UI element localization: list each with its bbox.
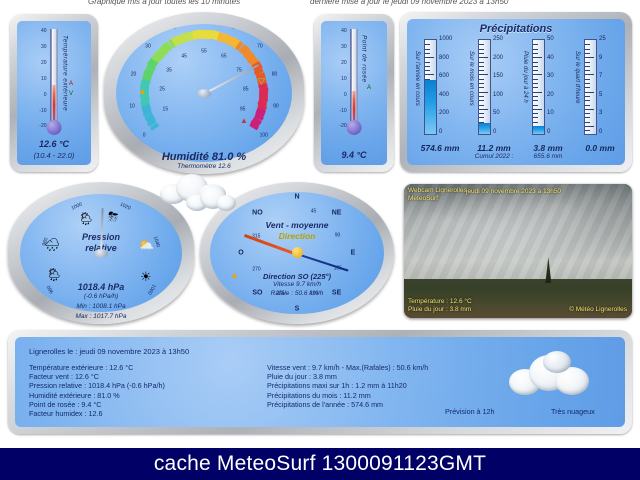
precipitation-scale-label: 0 [599,129,602,135]
precipitation-scale-label: 0 [493,129,496,135]
precipitation-tick [479,62,484,63]
wind-gust-text: Rafale : 50.6 km/h [210,290,384,299]
precipitation-tick [533,44,538,45]
summary-left-line: Température extérieure : 12.6 °C [29,363,165,372]
precipitation-scale-label: 20 [547,92,554,98]
precipitation-tick [533,74,542,75]
precipitation-tick [533,87,538,88]
precipitation-tick [479,92,488,93]
precipitation-tick [585,44,590,45]
barometer-readout: 1018.4 hPa (-0.6 hPa/h) Min : 1008.1 hPa… [8,282,194,322]
wind-direction-text: Direction SO (225°) [263,272,331,281]
precipitation-subvalue: 655.6 mm [517,153,579,160]
precipitation-tick [533,49,538,50]
precipitation-tick [479,117,484,118]
forecast-text: Très nuageux [551,407,595,416]
precipitation-column: 10008006004002000Sur l'année en cours574… [415,39,465,139]
rainy-symbol-icon: 🌧 [44,238,61,251]
precipitation-scale-label: 200 [439,110,449,116]
precipitation-tick [479,74,488,75]
outdoor-temperature-label: Température extérieure [61,35,68,111]
humidity-tick-label: 100 [260,133,268,138]
precipitation-tick [479,70,484,71]
humidity-min-marker-icon: ▲ [138,86,147,96]
humidity-inner-tick-label: 95 [240,108,246,113]
precipitation-tick [533,96,538,97]
dewpoint-glass-tube [351,29,358,129]
webcam-station-line2: MeteoSurf [408,195,438,202]
footer-text: cache MeteoSurf 1300091123GMT [154,452,486,476]
humidity-gauge-face: 0102030405060708090100 15253545556575859… [116,24,292,162]
storm-symbol-icon: ⛈ [108,210,118,223]
precipitation-tick [479,79,484,80]
tick-label: -20 [39,124,46,129]
decorative-cloud-right [186,186,238,212]
precipitation-axis-label: Sur le mois en cours [468,51,474,106]
wind-cardinal-label: E [351,250,356,257]
summary-left-line: Point de rosée : 9.4 °C [29,400,165,409]
humidity-tick-label: 40 [170,25,176,30]
precipitation-subvalue: Cumul 2022 : [463,153,525,160]
precipitation-tick [585,53,590,54]
precipitation-axis-label: Sur l'année en cours [414,51,420,106]
barometer-min: Min : 1008.1 hPa [8,302,194,312]
precipitation-panel[interactable]: Précipitations 10008006004002000Sur l'an… [400,12,632,172]
precipitation-tick [585,109,594,110]
precipitation-tick [479,113,484,114]
precipitation-tick [585,130,590,131]
summary-right-line: Précipitations de l'année : 574.6 mm [267,400,428,409]
precipitation-tick [479,44,484,45]
min-marker-icon: V [69,91,73,97]
precipitation-tube [532,39,545,135]
humidity-inner-tick-label: 25 [159,88,165,93]
precipitation-scale-label: 800 [439,55,449,61]
precipitation-scale-label: 5 [599,92,602,98]
precipitation-tick [585,117,590,118]
precipitation-tick [585,83,590,84]
humidity-inner-tick-label: 15 [163,108,169,113]
precipitation-fill [425,80,436,134]
humidity-max-marker-icon: ▽ [258,76,265,87]
humidity-inner-tick-label: 45 [181,55,187,60]
precipitation-tick [479,105,484,106]
precipitation-tick [533,122,538,123]
barometer-tick-label: 1020 [118,202,130,211]
precipitation-tick [425,62,430,63]
precipitation-scale-label: 200 [493,55,503,61]
summary-right-line: Pluie du jour : 3.8 mm [267,372,428,381]
precipitation-tick [533,113,538,114]
dewpoint-readout: 9.4 °C [321,150,387,161]
precipitation-tick [479,66,484,67]
humidity-inner-tick-label: 35 [166,68,172,73]
precipitation-column: 50403020100Pluie du jour à 24 h3.8 mm655… [523,39,573,139]
forecast-label: Prévision à 12h [445,407,495,416]
humidity-readout: Humidité 81.0 % Thermomètre 12.6 [104,152,304,172]
humidity-tick-label: 90 [273,104,279,109]
precipitation-tick [533,57,542,58]
precipitation-tick [585,62,590,63]
precipitation-scale-label: 50 [547,36,554,42]
precipitation-axis-label: Sur le quart d'heure [574,51,580,104]
precipitation-scale-label: 150 [493,73,503,79]
humidity-inner-tick-label: 65 [221,55,227,60]
rain-symbol-icon: 🌦 [78,212,95,225]
humidity-tick-label: 10 [129,104,135,109]
precipitation-tick [585,70,590,71]
wind-title-line2: Direction [279,231,316,241]
precipitation-tick [585,79,590,80]
precipitation-tick [533,100,538,101]
precipitation-scale-label: 9 [599,55,602,61]
wind-speed-text: Vitesse 9.7 km/h [210,281,384,290]
thermometer-glass-tube [51,29,58,129]
tick-label: 30 [41,45,47,50]
dewpoint-face: 40 30 20 10 0 -10 -20 Point de rosée A 9… [321,21,387,165]
precipitation-face: Précipitations 10008006004002000Sur l'an… [407,19,625,165]
precipitation-tick [425,70,430,71]
precipitation-tick [533,117,538,118]
precipitation-value: 11.2 mm [465,143,523,153]
precipitation-tick [585,74,594,75]
precipitation-tick [585,122,590,123]
tick-label: 30 [341,45,347,50]
precipitation-tube [424,39,437,135]
precipitation-tick [479,109,488,110]
tick-label: 10 [41,77,47,82]
wind-readout: Direction SO (225°) Vitesse 9.7 km/h Raf… [210,273,384,299]
precipitation-tick [479,100,484,101]
humidity-inner-tick-label: 85 [243,88,249,93]
precipitation-fill [479,123,490,134]
precipitation-scale-label: 50 [493,110,500,116]
precipitation-tick [479,96,484,97]
precipitation-tick [533,83,538,84]
max-marker-icon: A [69,81,73,87]
humidity-tick-label: 0 [143,133,146,138]
precipitation-tick [533,70,538,71]
barometer-value: 1018.4 hPa [78,282,125,292]
tick-label: 20 [41,61,47,66]
precipitation-tick [533,105,538,106]
tick-label: 40 [341,29,347,34]
precipitation-tick [585,92,594,93]
wind-cardinal-label: S [295,306,300,313]
precipitation-tick [585,113,590,114]
wind-degree-label: 45 [311,210,317,215]
humidity-inner-tick-label: 55 [201,50,207,55]
webcam-panel[interactable]: Webcam Lignerolles MeteoSurf jeudi 09 no… [404,184,632,318]
tick-label: 10 [341,77,347,82]
summary-heading: Lignerolles le : jeudi 09 novembre 2023 … [29,347,189,356]
barometer-trend: (-0.6 hPa/h) [8,292,194,302]
precipitation-tick [533,66,538,67]
precipitation-tick [425,44,430,45]
wind-title: Vent - moyenne Direction [210,220,384,242]
precipitation-tick [425,57,434,58]
precipitation-tick [425,49,430,50]
humidity-tick-label: 60 [232,25,238,30]
precipitation-scale-label: 40 [547,55,554,61]
outdoor-temperature-panel[interactable]: 40 30 20 10 0 -10 -20 Température extéri… [10,14,98,172]
wind-title-line1: Vent - moyenne [266,220,329,230]
wind-cardinal-label: NO [252,210,263,217]
precipitation-tick [479,87,484,88]
precipitation-title: Précipitations [407,23,625,35]
precipitation-tick [585,105,590,106]
summary-panel[interactable]: Lignerolles le : jeudi 09 novembre 2023 … [8,330,632,434]
precipitation-column: 2597530Sur le quart d'heure0.0 mm [575,39,625,139]
wind-cardinal-label: NE [332,210,342,217]
precipitation-scale-label: 0 [439,129,442,135]
webcam-station-name: Webcam Lignerolles MeteoSurf [408,187,467,203]
webcam-overlay-values: Température : 12.6 °C Pluie du jour : 3.… [408,298,472,314]
precipitation-tick [585,66,590,67]
precipitation-scale-label: 3 [599,110,602,116]
summary-left-line: Facteur vent : 12.6 °C [29,372,165,381]
tick-label: 20 [341,61,347,66]
outdoor-temperature-value: 12.6 °C [39,139,69,149]
barometer-max: Max : 1017.7 hPa [8,312,194,322]
dewpoint-bulb [347,120,362,135]
precipitation-scale-label: 25 [599,36,606,42]
precipitation-tick [585,126,594,127]
showers-symbol-icon: 🌦 [46,268,63,281]
humidity-needle-hub [197,89,211,98]
tick-label: 0 [344,93,347,98]
wind-cardinal-label: N [294,194,299,201]
header-left-note: Graphique mis à jour toutes les 10 minut… [88,0,240,6]
precipitation-scale-label: 10 [547,110,554,116]
precipitation-tick [479,83,484,84]
humidity-tick-label: 70 [257,45,263,50]
precipitation-tick [585,57,594,58]
dewpoint-marker-icon: A [367,85,371,91]
footer-bar: cache MeteoSurf 1300091123GMT [0,448,640,480]
wind-needle-hub [292,247,303,258]
forecast-cloud-icon [509,351,593,397]
outdoor-temperature-readout: 12.6 °C (10.4 - 22.0) [17,139,91,161]
precipitation-scale-label: 30 [547,73,554,79]
summary-left-line: Humidité extérieure : 81.0 % [29,391,165,400]
humidity-subtitle: Thermomètre 12.6 [104,162,304,172]
precipitation-axis-label: Pluie du jour à 24 h [522,51,528,103]
partly-cloudy-symbol-icon: ⛅ [138,238,154,251]
precipitation-column: 250200150100500Sur le mois en cours11.2 … [469,39,519,139]
summary-face: Lignerolles le : jeudi 09 novembre 2023 … [15,337,625,427]
precipitation-tick [533,79,538,80]
precipitation-tick [479,57,488,58]
dewpoint-label: Point de rosée [361,35,368,83]
tick-label: -10 [39,109,46,114]
summary-right-line: Précipitations maxi sur 1h : 1.2 mm à 11… [267,381,428,390]
header-right-note: dernière mise à jour le jeudi 09 novembr… [310,0,508,6]
precipitation-tick [585,96,590,97]
summary-left-line: Pression relative : 1018.4 hPa (-0.6 hPa… [29,381,165,390]
precipitation-scale-label: 0 [547,129,550,135]
humidity-tick-label: 80 [272,73,278,78]
precipitation-value: 574.6 mm [411,143,469,153]
precipitation-scale-label: 400 [439,92,449,98]
webcam-timestamp: jeudi 09 novembre 2023 à 13h50 [466,188,561,196]
webcam-rain-overlay: Pluie du jour : 3.8 mm [408,306,471,313]
barometer-needle-hub [94,249,108,258]
webcam-copyright: © Météo Lignerolles [569,306,627,314]
precipitation-value: 3.8 mm [519,143,577,153]
precipitation-scale-label: 1000 [439,36,452,42]
precipitation-tick [533,62,538,63]
wind-cardinal-label: O [238,250,243,257]
precipitation-scale-label: 7 [599,73,602,79]
outdoor-temperature-range: (10.4 - 22.0) [17,150,91,161]
precipitation-tick [533,53,538,54]
tick-label: 0 [44,93,47,98]
precipitation-tube [584,39,597,135]
tick-label: -10 [339,109,346,114]
precipitation-tick [533,92,542,93]
humidity-tick-label: 30 [145,45,151,50]
humidity-alt-marker-icon: ▲ [240,116,248,125]
precipitation-tick [479,49,484,50]
precipitation-scale-label: 250 [493,36,503,42]
outdoor-temperature-face: 40 30 20 10 0 -10 -20 Température extéri… [17,21,91,165]
humidity-gauge-panel[interactable]: 0102030405060708090100 15253545556575859… [104,12,304,174]
precipitation-tube [478,39,491,135]
summary-left-column: Température extérieure : 12.6 °CFacteur … [29,363,165,418]
webcam-station-line1: Webcam Lignerolles [408,187,467,194]
dewpoint-panel[interactable]: 40 30 20 10 0 -10 -20 Point de rosée A 9… [314,14,394,172]
humidity-needle [204,64,260,95]
summary-right-column: Vitesse vent : 9.7 km/h - Max.(Rafales) … [267,363,428,409]
precipitation-scale-label: 600 [439,73,449,79]
precipitation-tick [585,87,590,88]
precipitation-tick [425,53,430,54]
thermometer-bulb [47,120,62,135]
webcam-temp-overlay: Température : 12.6 °C [408,298,472,305]
header-notes: Graphique mis à jour toutes les 10 minut… [0,0,640,10]
tick-label: 40 [41,29,47,34]
precipitation-tick [585,100,590,101]
summary-right-line: Vitesse vent : 9.7 km/h - Max.(Rafales) … [267,363,428,372]
precipitation-value: 0.0 mm [571,143,625,153]
precipitation-fill [533,126,544,134]
precipitation-tick [533,109,542,110]
precipitation-tick [425,74,434,75]
dewpoint-value: 9.4 °C [341,150,366,160]
humidity-tick-label: 20 [131,73,137,78]
precipitation-tick [425,66,430,67]
summary-left-line: Facteur humidex : 12.6 [29,409,165,418]
summary-right-line: Précipitations du mois : 11.2 mm [267,391,428,400]
precipitation-tick [479,53,484,54]
wind-direction-needle [297,253,349,272]
precipitation-scale-label: 100 [493,92,503,98]
precipitation-tick [585,49,590,50]
